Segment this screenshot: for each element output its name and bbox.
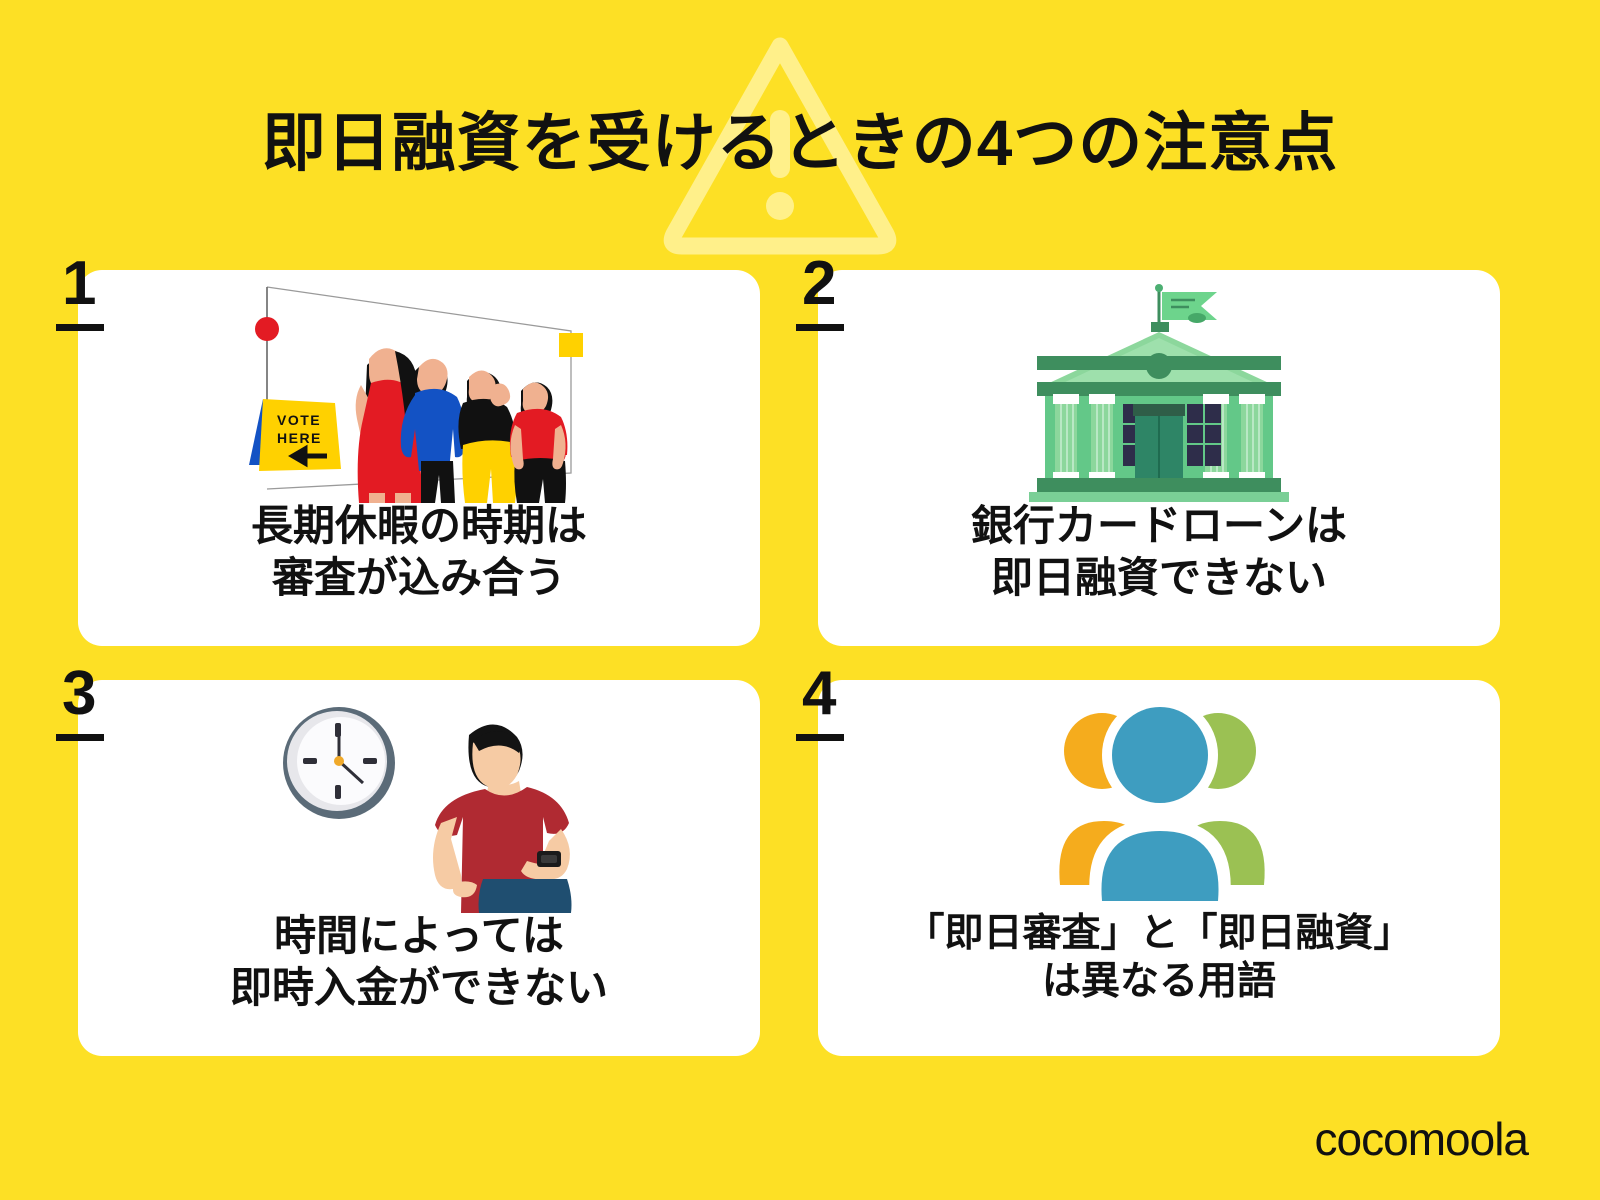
cocomoola-logo: cocomoola	[1315, 1112, 1528, 1166]
bank-building-illustration	[818, 270, 1500, 500]
svg-text:VOTE: VOTE	[277, 412, 321, 428]
group-of-people-icon	[818, 680, 1500, 910]
number-underline	[56, 324, 104, 331]
notice-card-2[interactable]: 銀行カードローンは 即日融資できない 2	[818, 270, 1500, 646]
svg-text:HERE: HERE	[277, 430, 322, 446]
notice-card-3-caption: 時間によっては 即時入金ができない	[220, 910, 618, 1014]
page-title: 即日融資を受けるときの4つの注意点	[0, 92, 1600, 184]
people-queue-vote-here-illustration: VOTE HERE	[78, 270, 760, 500]
notice-card-grid: VOTE HERE	[78, 270, 1522, 1056]
notice-card-3-number: 3	[56, 664, 146, 741]
notice-card-1-number: 1	[56, 254, 146, 331]
clock-man-checking-watch-illustration	[78, 680, 760, 910]
notice-card-2-caption: 銀行カードローンは 即日融資できない	[961, 500, 1357, 604]
number-underline	[56, 734, 104, 741]
notice-card-4-caption: 「即日審査」と「即日融資」 は異なる用語	[895, 910, 1422, 1007]
notice-card-3[interactable]: 時間によっては 即時入金ができない 3	[78, 680, 760, 1056]
notice-card-4-number: 4	[796, 664, 886, 741]
notice-card-1-caption: 長期休暇の時期は 審査が込み合う	[241, 500, 597, 604]
number-underline	[796, 734, 844, 741]
notice-card-4[interactable]: 「即日審査」と「即日融資」 は異なる用語 4	[818, 680, 1500, 1056]
number-underline	[796, 324, 844, 331]
notice-card-2-number: 2	[796, 254, 886, 331]
notice-card-1[interactable]: VOTE HERE	[78, 270, 760, 646]
